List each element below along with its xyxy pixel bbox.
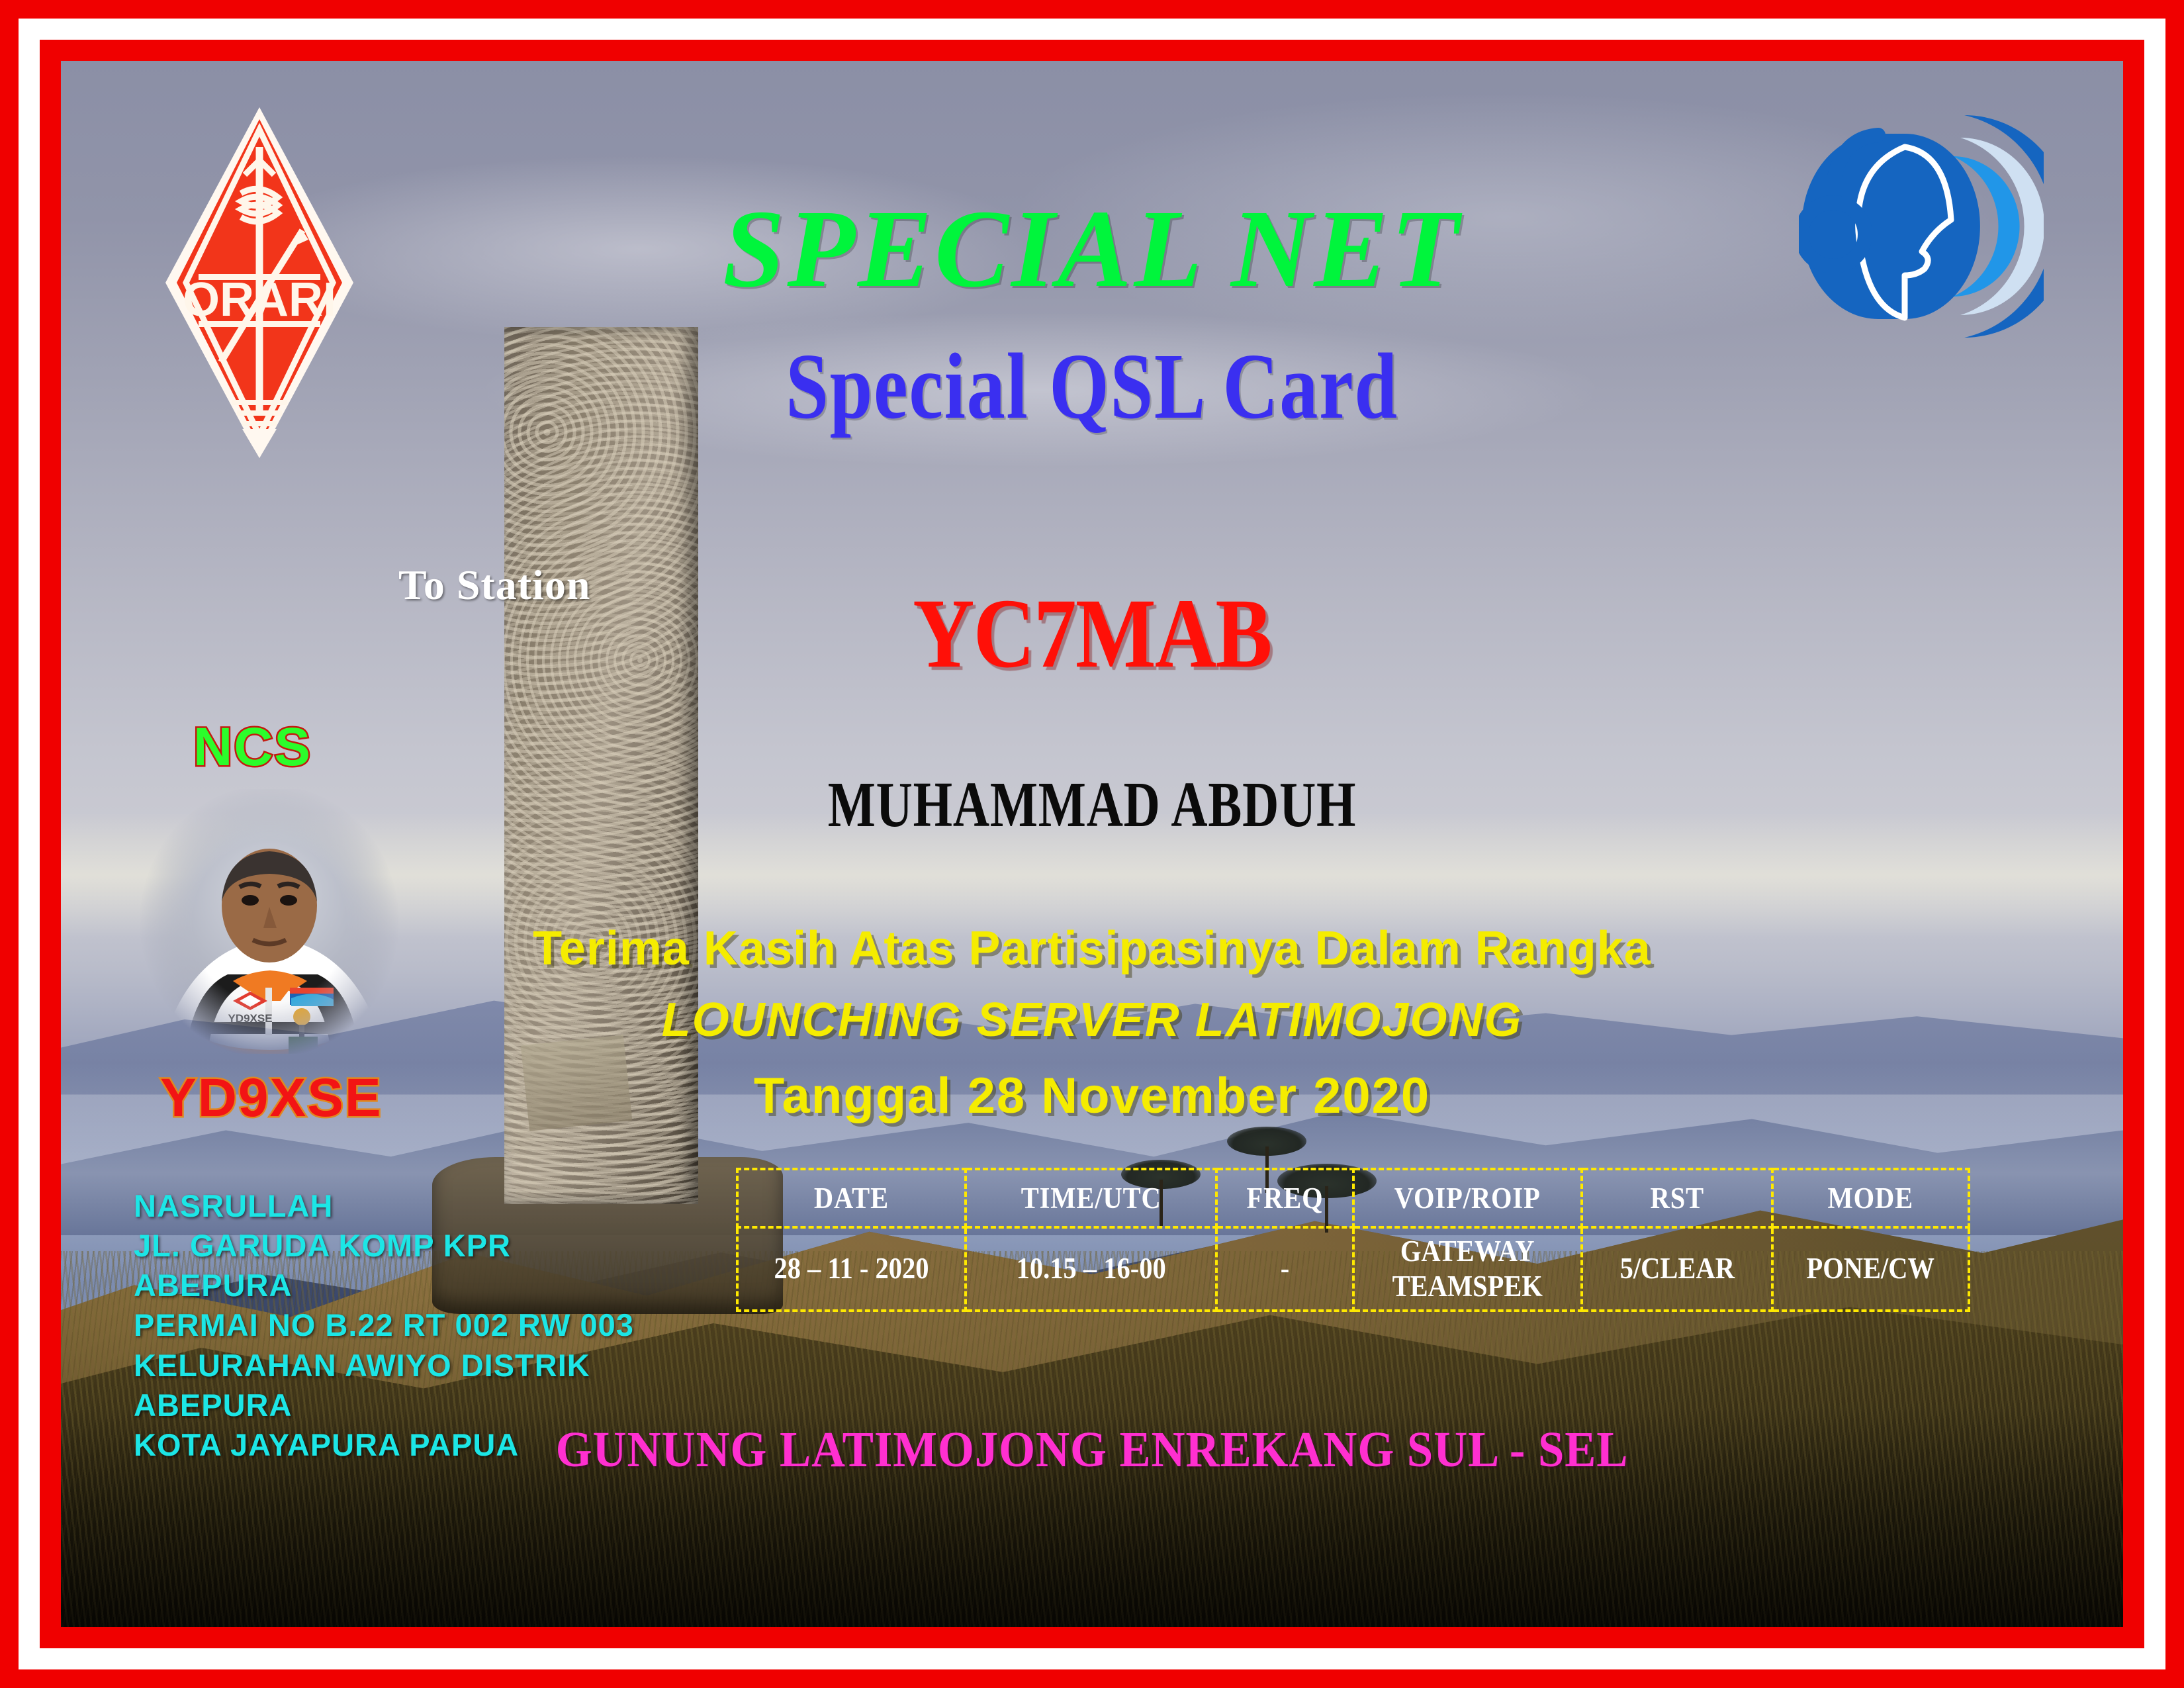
location-line: GUNUNG LATIMOJONG ENREKANG SUL - SEL [133, 1421, 2051, 1479]
cell-voip-line1: GATEWAY [1367, 1234, 1569, 1269]
address-line: ABEPURA [134, 1385, 634, 1425]
column-header-freq: FREQ [1224, 1169, 1347, 1227]
callsign-heading: YC7MAB [205, 584, 1979, 683]
card-background-photo: ORARI SPECIAL NET Special QSL Card To St [61, 61, 2123, 1627]
column-header-rst: RST [1591, 1169, 1763, 1227]
cell-voip-line2: TEAMSPEK [1367, 1269, 1569, 1304]
address-line: JL. GARUDA KOMP KPR [134, 1226, 634, 1266]
ncs-callsign: YD9XSE [160, 1067, 383, 1129]
cell-date: 28 – 11 - 2020 [749, 1227, 954, 1311]
column-header-voip: VOIP/ROIP [1365, 1169, 1570, 1227]
address-line: NASRULLAH [134, 1186, 634, 1226]
address-line: ABEPURA [134, 1266, 634, 1305]
operator-name: MUHAMMAD ABDUH [288, 773, 1896, 837]
cell-time: 10.15 – 16-00 [978, 1227, 1204, 1311]
cell-rst: 5/CLEAR [1591, 1227, 1763, 1311]
column-header-date: DATE [749, 1169, 954, 1227]
cell-mode: PONE/CW [1782, 1227, 1959, 1311]
cell-voip: GATEWAY TEAMSPEK [1365, 1227, 1570, 1311]
page-title: SPECIAL NET [61, 193, 2123, 305]
motto-text: "AMATIR RADIO ADALAH PROGRESIVE" [134, 1626, 1015, 1627]
table-row: 28 – 11 - 2020 10.15 – 16-00 - GATEWAY T… [737, 1227, 1969, 1311]
ncs-label: NCS [193, 716, 312, 778]
qsl-card: ORARI SPECIAL NET Special QSL Card To St [0, 0, 2184, 1688]
address-line: KELURAHAN AWIYO DISTRIK [134, 1346, 634, 1385]
cell-freq: - [1224, 1227, 1347, 1311]
address-line: PERMAI NO B.22 RT 002 RW 003 [134, 1305, 634, 1345]
page-subtitle: Special QSL Card [246, 339, 1937, 433]
column-header-mode: MODE [1782, 1169, 1959, 1227]
qso-log-table: DATE TIME/UTC FREQ VOIP/ROIP RST MODE 28… [736, 1168, 1970, 1312]
ncs-operator-photo: YD9XSE [134, 789, 405, 1054]
column-header-time: TIME/UTC [978, 1169, 1204, 1227]
table-header-row: DATE TIME/UTC FREQ VOIP/ROIP RST MODE [737, 1169, 1969, 1227]
uniform-callsign-patch: YD9XSE [228, 1012, 272, 1025]
website-address: Address : amatir.latimojong.com [1305, 1626, 1943, 1627]
